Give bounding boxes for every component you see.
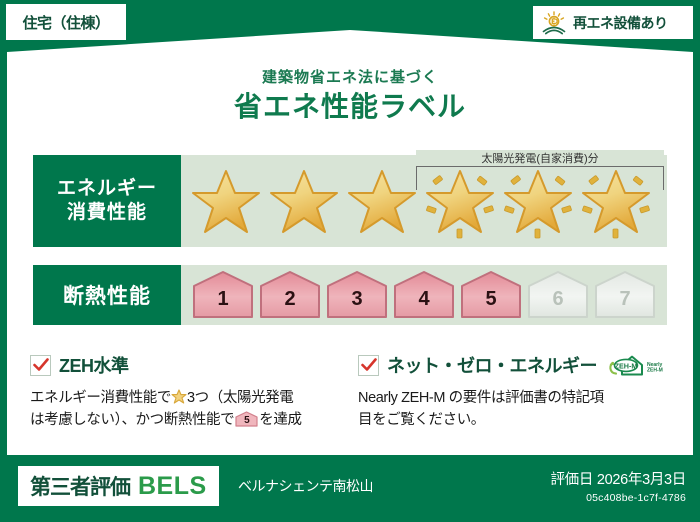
net-zero-energy-title: ネット・ゼロ・エネルギー xyxy=(387,352,597,378)
zeh-desc-star-count: 3つ（太陽光発電 xyxy=(187,390,293,406)
insulation-grade-1: 1 xyxy=(191,270,255,320)
insulation-grade-3-value: 3 xyxy=(325,288,389,311)
renewable-badge-label: 再エネ設備あり xyxy=(573,13,668,33)
energy-label-line2: 消費性能 xyxy=(67,201,147,225)
building-type-text: 住宅（住棟） xyxy=(22,12,109,33)
renewable-energy-badge: 再エネ設備あり xyxy=(533,6,693,39)
zeh-standard-title: ZEH水準 xyxy=(59,352,129,378)
evaluation-date: 評価日 2026年3月3日 xyxy=(550,468,686,489)
zeh-desc-part3: を達成 xyxy=(259,412,301,428)
checkbox-checked-icon xyxy=(358,355,379,376)
zeh-desc-part2: は考慮しない）、かつ断熱性能で xyxy=(30,412,234,428)
sun-icon xyxy=(541,11,567,35)
insulation-grade-2: 2 xyxy=(258,270,322,320)
svg-text:ZEH-M: ZEH-M xyxy=(647,368,663,374)
insulation-grade-4: 4 xyxy=(392,270,456,320)
insulation-performance-row: 断熱性能 1 2 xyxy=(33,265,667,325)
insulation-label-text: 断熱性能 xyxy=(63,280,151,310)
insulation-grade-2-value: 2 xyxy=(258,288,322,311)
zeh-standard-description: エネルギー消費性能で 3つ（太陽光発電は考慮しない）、かつ断熱性能で 5を達成 xyxy=(30,387,355,432)
evaluation-meta: 評価日 2026年3月3日 05c408be-1c7f-4786 xyxy=(550,468,686,504)
bels-energy-label: 住宅（住棟） 再エネ設備あり 建築物省エネ法に基づく 省エネ性能ラベル xyxy=(0,0,700,522)
insulation-grade-6-value: 6 xyxy=(526,288,590,311)
net-zero-desc-line1: Nearly ZEH-M の要件は評価書の特記項 xyxy=(358,390,604,406)
net-zero-energy-block: ネット・ゼロ・エネルギー ZEH-M Nearly ZEH-M Nearly Z… xyxy=(358,352,678,432)
solar-bracket xyxy=(416,166,664,190)
energy-label-line1: エネルギー xyxy=(57,177,157,201)
insulation-grade-7-value: 7 xyxy=(593,288,657,311)
insulation-grade-3: 3 xyxy=(325,270,389,320)
insulation-grade-1-value: 1 xyxy=(191,288,255,311)
zeh-desc-part1: エネルギー消費性能で xyxy=(30,390,171,406)
insulation-grade-6: 6 xyxy=(526,270,590,320)
bels-footer-plate: 第三者評価 BELS xyxy=(18,466,219,506)
insulation-grade-7: 7 xyxy=(593,270,657,320)
insulation-grade-5-value: 5 xyxy=(459,288,523,311)
bels-logo-text: BELS xyxy=(138,472,207,501)
insulation-grade-4-value: 4 xyxy=(392,288,456,311)
energy-star-1 xyxy=(187,162,265,240)
svg-text:ZEH-M: ZEH-M xyxy=(615,361,638,370)
insulation-grades-area: 1 2 3 4 5 6 xyxy=(181,265,667,325)
zeh-standard-header: ZEH水準 xyxy=(30,352,355,378)
building-type-tab: 住宅（住棟） xyxy=(6,4,126,40)
label-subtitle: 建築物省エネ法に基づく xyxy=(0,66,700,87)
evaluation-id: 05c408be-1c7f-4786 xyxy=(550,492,686,504)
third-party-evaluation-label: 第三者評価 xyxy=(30,471,130,501)
zeh-m-logo-icon: ZEH-M Nearly ZEH-M xyxy=(607,352,669,378)
energy-star-2 xyxy=(265,162,343,240)
checkbox-checked-icon xyxy=(30,355,51,376)
zeh-standard-block: ZEH水準 エネルギー消費性能で 3つ（太陽光発電は考慮しない）、かつ断熱性能で… xyxy=(30,352,355,432)
insulation-performance-label: 断熱性能 xyxy=(33,265,181,325)
building-name: ベルナシェンテ南松山 xyxy=(238,476,373,496)
mini-house-grade-icon: 5 xyxy=(234,411,259,427)
energy-star-3 xyxy=(343,162,421,240)
energy-performance-label: エネルギー 消費性能 xyxy=(33,155,181,247)
page-title: 省エネ性能ラベル xyxy=(0,85,700,125)
net-zero-energy-description: Nearly ZEH-M の要件は評価書の特記項 目をご覧ください。 xyxy=(358,387,678,432)
mini-star-icon xyxy=(171,389,187,404)
net-zero-desc-line2: 目をご覧ください。 xyxy=(358,412,485,428)
net-zero-energy-header: ネット・ゼロ・エネルギー ZEH-M Nearly ZEH-M xyxy=(358,352,678,378)
insulation-grade-5: 5 xyxy=(459,270,523,320)
mini-house-grade-value: 5 xyxy=(234,413,259,429)
solar-bracket-label: 太陽光発電(自家消費)分 xyxy=(416,150,664,166)
